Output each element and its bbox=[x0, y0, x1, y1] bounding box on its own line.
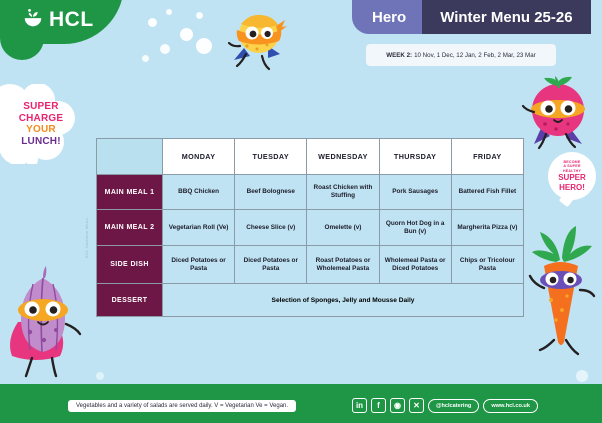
weekly-menu-table: MONDAY TUESDAY WEDNESDAY THURSDAY FRIDAY… bbox=[96, 138, 524, 317]
day-header-tuesday: TUESDAY bbox=[235, 139, 307, 175]
social-handle[interactable]: @hclcatering bbox=[428, 399, 479, 413]
row-label-main-meal-2: MAIN MEAL 2 bbox=[97, 210, 163, 246]
row-label-dessert: DESSERT bbox=[97, 284, 163, 317]
facebook-icon[interactable]: f bbox=[371, 398, 386, 413]
carrot-superhero bbox=[520, 222, 600, 362]
leaf-bowl-icon bbox=[22, 8, 44, 30]
menu-title-bar: Hero Winter Menu 25-26 bbox=[352, 0, 591, 34]
day-header-wednesday: WEDNESDAY bbox=[307, 139, 379, 175]
callout-line-3: YOUR bbox=[10, 124, 72, 136]
supercharge-callout-text: SUPER CHARGE YOUR LUNCH! bbox=[10, 101, 72, 147]
footer-legend: Vegetables and a variety of salads are s… bbox=[68, 400, 296, 412]
cell-side-tuesday: Diced Potatoes or Pasta bbox=[235, 246, 307, 284]
linkedin-icon[interactable]: in bbox=[352, 398, 367, 413]
cell-main2-friday: Margherita Pizza (v) bbox=[451, 210, 523, 246]
cell-main2-monday: Vegetarian Roll (Ve) bbox=[163, 210, 235, 246]
cell-main2-tuesday: Cheese Slice (v) bbox=[235, 210, 307, 246]
cell-side-friday: Chips or Tricolour Pasta bbox=[451, 246, 523, 284]
day-header-thursday: THURSDAY bbox=[379, 139, 451, 175]
cell-side-wednesday: Roast Potatoes or Wholemeal Pasta bbox=[307, 246, 379, 284]
berry-superhero bbox=[520, 74, 598, 154]
cell-main2-wednesday: Omelette (v) bbox=[307, 210, 379, 246]
hcl-logo: HCL bbox=[22, 8, 94, 30]
badge-big-line-1: SUPER bbox=[558, 174, 586, 182]
lemon-superhero bbox=[224, 4, 294, 74]
cell-main1-tuesday: Beef Bolognese bbox=[235, 175, 307, 210]
cell-side-monday: Diced Potatoes or Pasta bbox=[163, 246, 235, 284]
table-row: MAIN MEAL 2 Vegetarian Roll (Ve) Cheese … bbox=[97, 210, 524, 246]
hero-label: Hero bbox=[352, 0, 422, 34]
bubble-decor bbox=[96, 372, 104, 380]
day-header-friday: FRIDAY bbox=[451, 139, 523, 175]
table-row: SIDE DISH Diced Potatoes or Pasta Diced … bbox=[97, 246, 524, 284]
menu-table-container: MONDAY TUESDAY WEDNESDAY THURSDAY FRIDAY… bbox=[96, 138, 524, 317]
callout-line-2: CHARGE bbox=[10, 113, 72, 125]
badge-big-line-2: HERO! bbox=[559, 184, 585, 192]
cell-side-thursday: Wholemeal Pasta or Diced Potatoes bbox=[379, 246, 451, 284]
onion-superhero bbox=[0, 266, 86, 378]
cell-main1-monday: BBQ Chicken bbox=[163, 175, 235, 210]
cell-main1-thursday: Pork Sausages bbox=[379, 175, 451, 210]
page-title: Winter Menu 25-26 bbox=[422, 0, 590, 34]
row-label-main-meal-1: MAIN MEAL 1 bbox=[97, 175, 163, 210]
bubble-decor bbox=[196, 38, 212, 54]
cell-main1-friday: Battered Fish Fillet bbox=[451, 175, 523, 210]
logo-text: HCL bbox=[49, 9, 94, 30]
bubble-decor bbox=[180, 28, 193, 41]
callout-line-1: SUPER bbox=[10, 101, 72, 113]
week-info-bar: WEEK 2: 10 Nov, 1 Dec, 12 Jan, 2 Feb, 2 … bbox=[366, 44, 556, 66]
instagram-icon[interactable]: ◉ bbox=[390, 398, 405, 413]
bubble-decor bbox=[160, 44, 170, 54]
bubble-decor bbox=[148, 18, 157, 27]
social-links: in f ◉ ✕ @hclcatering www.hcl.co.uk bbox=[352, 398, 538, 413]
bubble-decor bbox=[166, 9, 172, 15]
table-header-row: MONDAY TUESDAY WEDNESDAY THURSDAY FRIDAY bbox=[97, 139, 524, 175]
cell-dessert-all-week: Selection of Sponges, Jelly and Mousse D… bbox=[163, 284, 524, 317]
table-corner-cell bbox=[97, 139, 163, 175]
week-dates: 10 Nov, 1 Dec, 12 Jan, 2 Feb, 2 Mar, 23 … bbox=[414, 52, 536, 59]
table-row: MAIN MEAL 1 BBQ Chicken Beef Bolognese R… bbox=[97, 175, 524, 210]
week-label: WEEK 2: bbox=[386, 52, 412, 59]
table-side-watermark: HCL Nutrition Menu bbox=[84, 218, 89, 258]
bubble-decor bbox=[576, 370, 588, 382]
table-row: DESSERT Selection of Sponges, Jelly and … bbox=[97, 284, 524, 317]
callout-line-4: LUNCH! bbox=[10, 136, 72, 148]
super-hero-badge: BECOME A SUPER HEALTHY SUPER HERO! bbox=[548, 152, 596, 200]
cell-main1-wednesday: Roast Chicken with Stuffing bbox=[307, 175, 379, 210]
row-label-side-dish: SIDE DISH bbox=[97, 246, 163, 284]
cell-main2-thursday: Quorn Hot Dog in a Bun (v) bbox=[379, 210, 451, 246]
bubble-decor bbox=[142, 55, 149, 62]
bubble-decor bbox=[196, 12, 203, 19]
day-header-monday: MONDAY bbox=[163, 139, 235, 175]
website-link[interactable]: www.hcl.co.uk bbox=[483, 399, 538, 413]
x-twitter-icon[interactable]: ✕ bbox=[409, 398, 424, 413]
